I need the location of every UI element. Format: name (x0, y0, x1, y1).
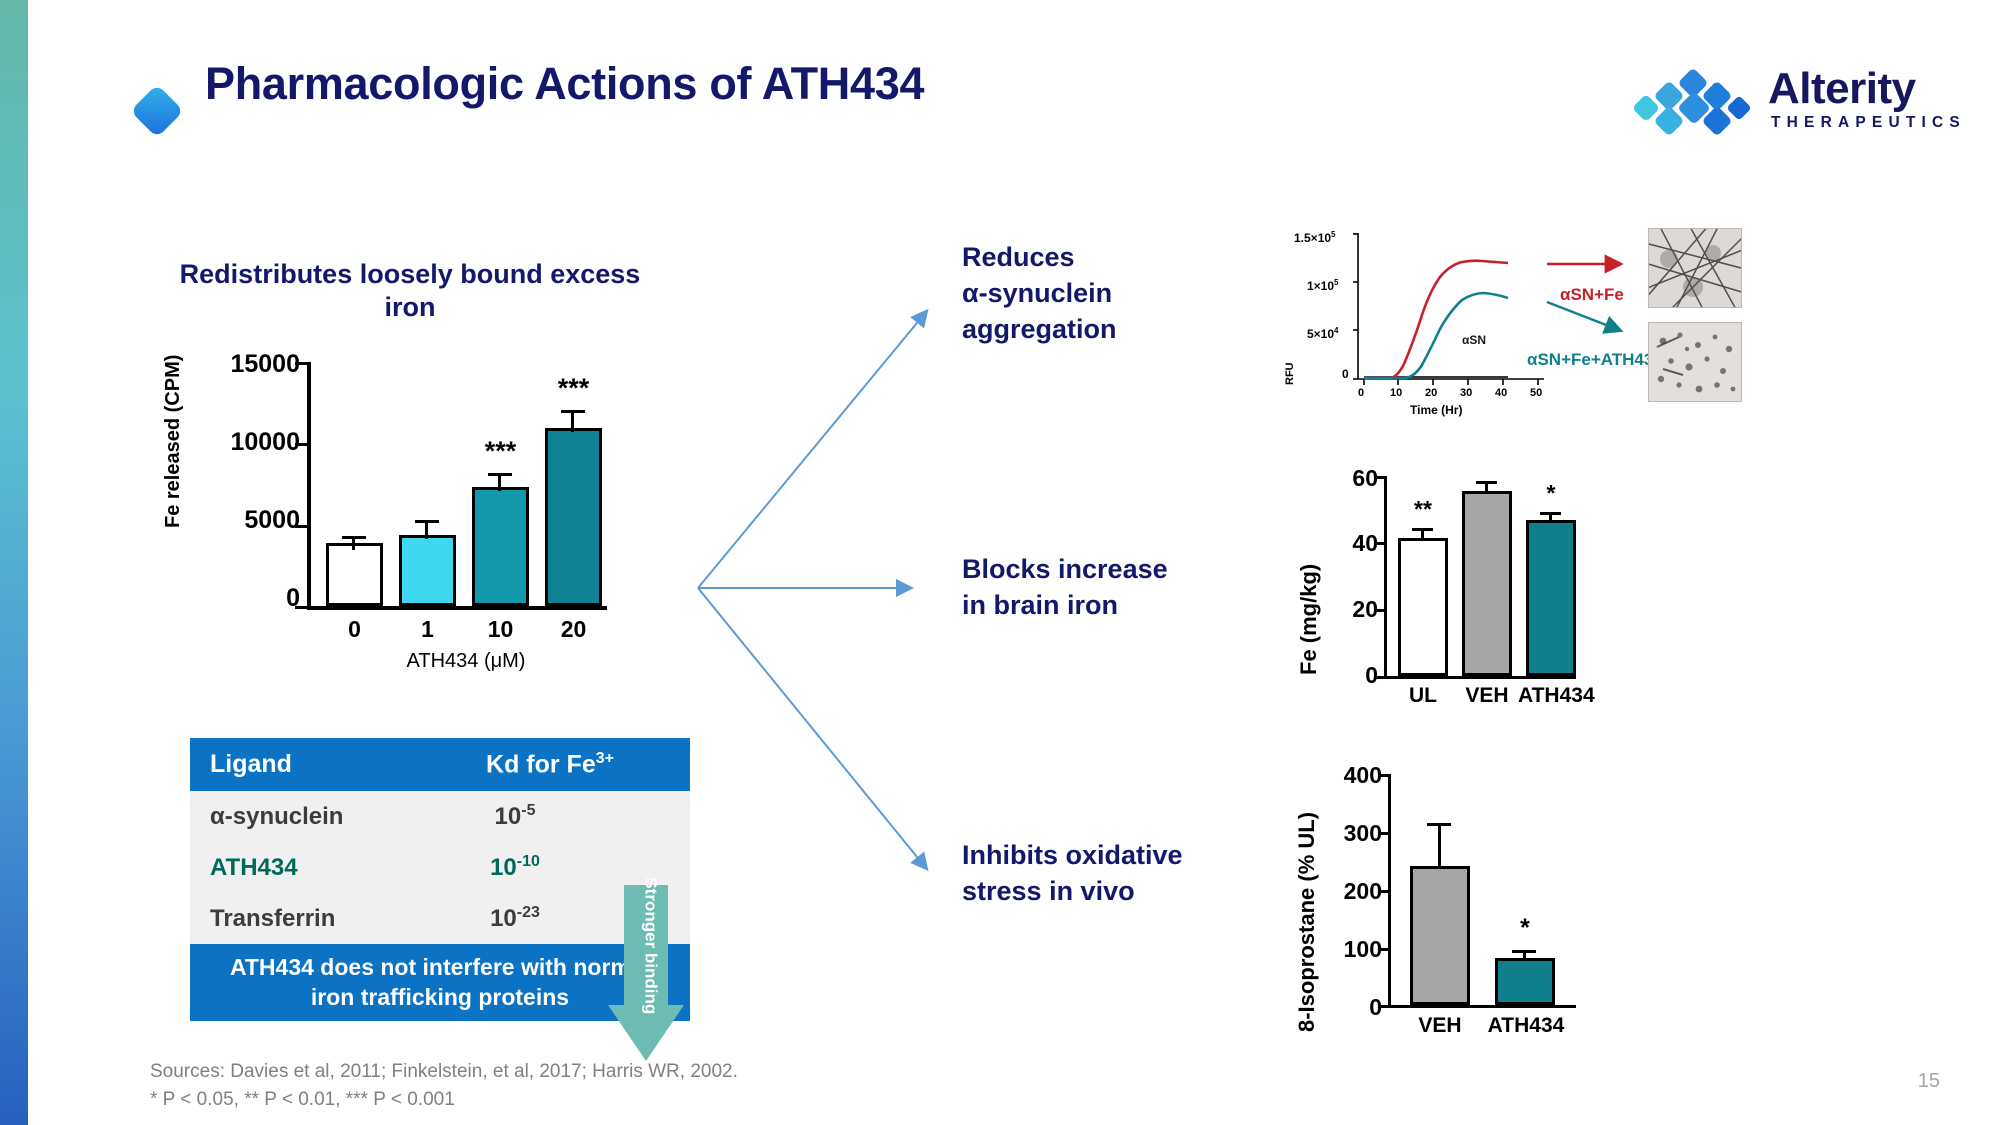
table-row: α-synuclein 10-5 (190, 791, 690, 842)
errorcap-bi-ul (1412, 528, 1433, 531)
x-tick-k-10: 10 (1390, 387, 1402, 399)
errorcap-ip-veh (1427, 823, 1451, 826)
y-tick-ip-200: 200 (1314, 878, 1382, 905)
callout-line: in brain iron (962, 588, 1168, 624)
errorcap-bi-veh (1476, 481, 1497, 484)
x-axis-label-fe-released: ATH434 (μM) (326, 650, 606, 673)
stronger-binding-label: Stronger binding (641, 877, 660, 937)
y-tick-bi-0: 0 (1316, 662, 1378, 689)
kd-table: Ligand Kd for Fe3+ α-synuclein 10-5 ATH4… (190, 738, 690, 1021)
x-tick-k-20: 20 (1425, 387, 1437, 399)
callout-line: α-synuclein (962, 276, 1117, 312)
page-number: 15 (1918, 1070, 1940, 1093)
callout-line: aggregation (962, 312, 1117, 348)
y-tick-ip-0: 0 (1314, 994, 1382, 1021)
em-image-amorphous-aggregates (1648, 322, 1742, 402)
y-tick-bi-20: 20 (1316, 596, 1378, 623)
kinetics-annotation-asyn-fe: αSN+Fe (1560, 285, 1624, 305)
y-tick-5000: 5000 (170, 506, 300, 535)
alterity-logo: Alterity THERAPEUTICS (1630, 62, 1960, 144)
bar-isoprostane-ath434 (1495, 958, 1555, 1005)
y-tick-mark-ip-100 (1378, 948, 1389, 951)
x-tick-fe-0: 0 (326, 616, 383, 643)
y-tick-mark-5000 (295, 525, 308, 528)
y-tick-bi-60: 60 (1316, 465, 1378, 492)
connector-arrows (690, 280, 990, 880)
callout-reduce-aggregation: Reduces α-synuclein aggregation (962, 240, 1117, 348)
brain-iron-y-axis (1384, 476, 1387, 679)
y-tick-mark-ip-400 (1378, 774, 1389, 777)
y-tick-mark-15000 (295, 362, 308, 365)
kd-table-header: Ligand Kd for Fe3+ (190, 738, 690, 791)
em-image-fibrils (1648, 228, 1742, 308)
kd-cell-value: 10-5 (410, 802, 690, 831)
sources-line-1: Sources: Davies et al, 2011; Finkelstein… (150, 1058, 738, 1086)
arrow-to-amorphous-em (1547, 302, 1619, 330)
x-tick-bi-veh: VEH (1458, 684, 1516, 708)
y-tick-ip-400: 400 (1314, 762, 1382, 789)
y-tick-ip-100: 100 (1314, 936, 1382, 963)
errorbar-fe-20 (571, 410, 574, 432)
bar-brain-iron-ul (1398, 538, 1448, 676)
y-tick-mark-bi-0 (1374, 676, 1385, 679)
kd-header-kd: Kd for Fe3+ (410, 738, 690, 791)
y-tick-kinetics-0: 0 (1342, 367, 1349, 381)
callout-line: Blocks increase (962, 552, 1168, 588)
errorbar-ip-veh (1438, 823, 1441, 869)
kinetics-annotation-asyn: αSN (1462, 333, 1486, 347)
y-tick-mark-10000 (295, 443, 308, 446)
isoprostane-x-axis (1388, 1005, 1576, 1008)
errorcap-fe-0 (342, 536, 366, 539)
errorcap-fe-1 (415, 520, 439, 523)
callout-inhibit-ox-stress: Inhibits oxidative stress in vivo (962, 838, 1183, 910)
y-tick-10000: 10000 (170, 428, 300, 457)
x-axis-label-kinetics: Time (Hr) (1410, 403, 1462, 417)
errorcap-ip-ath434 (1512, 950, 1536, 953)
y-axis-line (307, 362, 311, 609)
x-tick-k-40: 40 (1495, 387, 1507, 399)
y-tick-bi-40: 40 (1316, 530, 1378, 557)
y-tick-kinetics-100k: 1×105 (1307, 278, 1338, 293)
kd-cell-ligand: Transferrin (190, 905, 410, 933)
bar-fe-10 (472, 487, 529, 606)
chart-brain-iron: Fe (mg/kg) 60 40 20 0 ** * UL VEH ATH434 (1290, 460, 1610, 740)
x-axis-line-ext (307, 606, 607, 610)
x-tick-fe-1: 1 (399, 616, 456, 643)
x-tick-bi-ath434: ATH434 (1518, 684, 1592, 708)
bar-fe-1 (399, 535, 456, 606)
bar-brain-iron-veh (1462, 491, 1512, 676)
significance-fe-10: *** (468, 436, 533, 467)
callout-block-brain-iron: Blocks increase in brain iron (962, 552, 1168, 624)
kinetics-plot-area (1358, 233, 1548, 393)
sources-line-2: * P < 0.05, ** P < 0.01, *** P < 0.001 (150, 1086, 738, 1114)
arrow-to-aggregation (698, 312, 926, 588)
bar-brain-iron-ath434 (1526, 520, 1576, 676)
x-tick-fe-20: 20 (545, 616, 602, 643)
y-tick-kinetics-150k: 1.5×105 (1294, 230, 1336, 245)
left-gradient-strip (0, 0, 28, 1125)
title-bullet-diamond-icon (130, 84, 184, 138)
errorcap-fe-20 (561, 410, 585, 413)
errorcap-bi-ath434 (1540, 512, 1561, 515)
bar-fe-0 (326, 543, 383, 606)
x-tick-fe-10: 10 (472, 616, 529, 643)
y-tick-mark-bi-60 (1374, 476, 1385, 479)
kd-header-ligand: Ligand (190, 738, 410, 791)
bar-isoprostane-veh (1410, 866, 1470, 1005)
kinetics-annotation-asyn-fe-ath434: αSN+Fe+ATH434 (1527, 350, 1663, 370)
y-tick-mark-ip-200 (1378, 890, 1389, 893)
callout-line: Reduces (962, 240, 1117, 276)
x-tick-ip-veh: VEH (1404, 1014, 1476, 1038)
chart-fe-released: Redistributes loosely bound excess iron … (150, 258, 670, 658)
chart-title-fe-released: Redistributes loosely bound excess iron (160, 258, 660, 324)
bar-fe-20 (545, 428, 602, 606)
y-tick-mark-bi-20 (1374, 609, 1385, 612)
significance-fe-20: *** (541, 373, 606, 404)
x-tick-k-30: 30 (1460, 387, 1472, 399)
callout-line: stress in vivo (962, 874, 1183, 910)
significance-ip-ath434: * (1496, 914, 1554, 943)
x-tick-bi-ul: UL (1394, 684, 1452, 708)
sources-note: Sources: Davies et al, 2011; Finkelstein… (150, 1058, 738, 1113)
kd-cell-ligand: α-synuclein (190, 803, 410, 831)
x-tick-k-0: 0 (1358, 387, 1364, 399)
y-axis-label-kinetics: RFU (1284, 362, 1296, 385)
arrow-to-ox-stress (698, 588, 926, 868)
brain-iron-x-axis (1384, 676, 1576, 679)
errorcap-fe-10 (488, 473, 512, 476)
significance-bi-ath434: * (1523, 480, 1579, 507)
kd-cell-ligand: ATH434 (190, 854, 410, 882)
chart-8-isoprostane: 8-Isoprostane (% UL) 400 300 200 100 0 *… (1290, 762, 1610, 1062)
y-tick-mark-bi-40 (1374, 542, 1385, 545)
significance-bi-ul: ** (1395, 496, 1451, 523)
x-tick-ip-ath434: ATH434 (1486, 1014, 1566, 1038)
logo-tagline: THERAPEUTICS (1771, 114, 1966, 132)
y-tick-mark-ip-300 (1378, 832, 1389, 835)
page-title: Pharmacologic Actions of ATH434 (205, 58, 924, 110)
y-tick-0: 0 (170, 584, 300, 613)
y-tick-mark-ip-0 (1378, 1005, 1389, 1008)
callout-line: Inhibits oxidative (962, 838, 1183, 874)
logo-wordmark: Alterity (1768, 64, 1916, 114)
x-tick-k-50: 50 (1530, 387, 1542, 399)
y-tick-15000: 15000 (170, 350, 300, 379)
logo-mark-icon (1630, 68, 1762, 140)
kinetics-series-asyn-fe (1364, 261, 1508, 378)
kinetics-series-asyn-fe-ath434 (1364, 293, 1508, 378)
y-tick-kinetics-50k: 5×104 (1307, 326, 1338, 341)
y-tick-ip-300: 300 (1314, 820, 1382, 847)
